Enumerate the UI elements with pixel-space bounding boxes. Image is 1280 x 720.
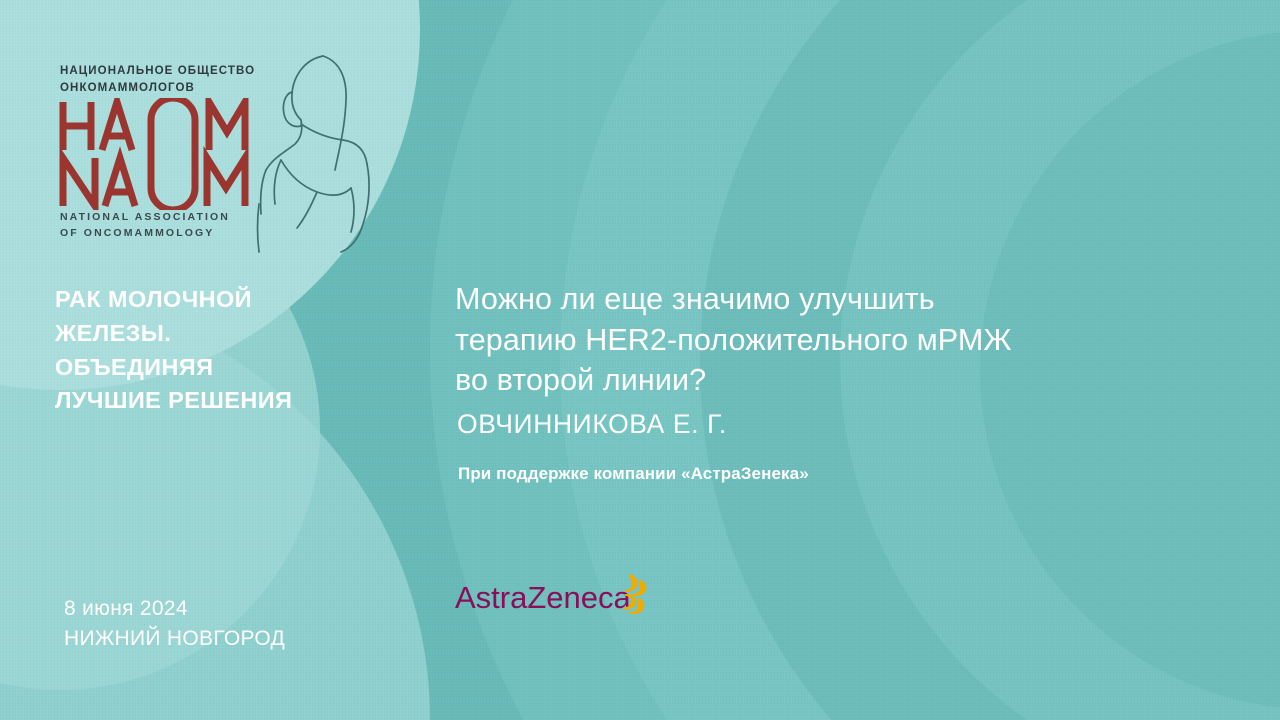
naom-tagline-en-line-2: OF ONCOMAMMOLOGY (60, 226, 280, 242)
naom-logo-tagline-en: NATIONAL ASSOCIATION OF ONCOMAMMOLOGY (60, 210, 280, 242)
event-date-location: 8 июня 2024 НИЖНИЙ НОВГОРОД (64, 594, 404, 655)
slide-content: НАЦИОНАЛЬНОЕ ОБЩЕСТВО ОНКОМАММОЛОГОВ (0, 0, 1280, 720)
talk-title-line-3: во второй линии? (455, 360, 1135, 401)
astrazeneca-logo: AstraZeneca (455, 568, 665, 624)
event-title-line-2: ЖЕЛЕЗЫ. (55, 317, 385, 351)
presentation-slide: НАЦИОНАЛЬНОЕ ОБЩЕСТВО ОНКОМАММОЛОГОВ (0, 0, 1280, 720)
talk-title: Можно ли еще значимо улучшить терапию HE… (455, 279, 1135, 401)
left-column: НАЦИОНАЛЬНОЕ ОБЩЕСТВО ОНКОМАММОЛОГОВ (0, 0, 420, 720)
naom-tagline-line-2: ОНКОМАММОЛОГОВ (60, 80, 260, 97)
event-title-line-4: ЛУЧШИЕ РЕШЕНИЯ (55, 384, 385, 418)
event-title-line-1: РАК МОЛОЧНОЙ (55, 283, 385, 317)
event-date: 8 июня 2024 (64, 594, 404, 624)
talk-title-line-1: Можно ли еще значимо улучшить (455, 279, 1135, 320)
right-column: Можно ли еще значимо улучшить терапию HE… (455, 0, 1175, 720)
event-city: НИЖНИЙ НОВГОРОД (64, 624, 404, 654)
astrazeneca-wordmark: AstraZeneca (455, 580, 632, 615)
event-title: РАК МОЛОЧНОЙ ЖЕЛЕЗЫ. ОБЪЕДИНЯЯ ЛУЧШИЕ РЕ… (55, 283, 385, 418)
naom-tagline-line-1: НАЦИОНАЛЬНОЕ ОБЩЕСТВО (60, 63, 260, 80)
woman-silhouette-icon (251, 54, 391, 254)
naom-tagline-en-line-1: NATIONAL ASSOCIATION (60, 210, 280, 226)
naom-logo-tagline-ru: НАЦИОНАЛЬНОЕ ОБЩЕСТВО ОНКОМАММОЛОГОВ (60, 63, 260, 96)
naom-lettermark (55, 98, 255, 208)
event-title-line-3: ОБЪЕДИНЯЯ (55, 351, 385, 385)
talk-title-line-2: терапию HER2-положительного мРМЖ (455, 320, 1135, 361)
naom-logo: НАЦИОНАЛЬНОЕ ОБЩЕСТВО ОНКОМАММОЛОГОВ (55, 58, 375, 248)
speaker-name: ОВЧИННИКОВА Е. Г. (457, 409, 727, 440)
support-note: При поддержке компании «АстраЗенека» (458, 464, 809, 484)
